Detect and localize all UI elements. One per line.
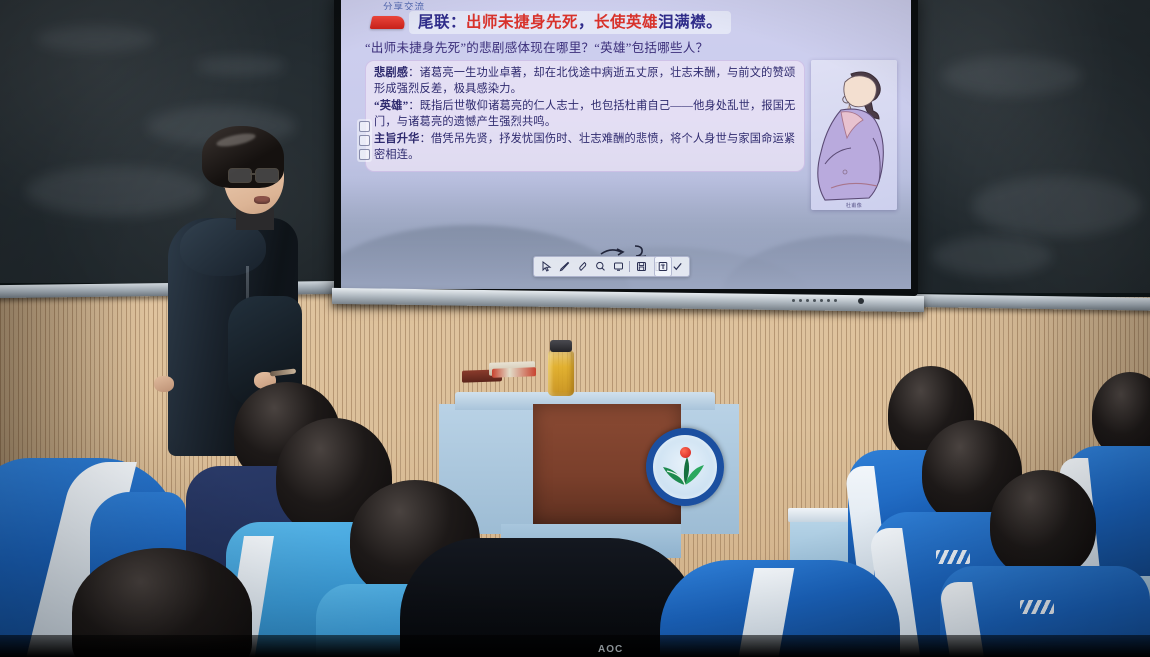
book-on-desk: [788, 508, 852, 522]
couplet-part2: 长使英雄: [594, 14, 658, 31]
cursor-tool-icon[interactable]: [537, 259, 555, 274]
couplet-label: 尾联：: [418, 14, 466, 31]
couplet-text: 尾联：出师未捷身先死，长使英雄泪满襟。: [409, 11, 731, 34]
foreground-shadow: [0, 635, 1150, 657]
teacher-mouth: [254, 196, 270, 204]
du-fu-portrait-illustration: 杜甫像: [811, 60, 897, 210]
chalkboard-right: [908, 0, 1150, 297]
slide-question: “出师未捷身先死”的悲剧感体现在哪里？“英雄”包括哪些人？: [365, 37, 897, 56]
paragraph-1-lead: 悲剧感: [374, 67, 408, 79]
paragraph-1-text: ：诸葛亮一生功业卓著，却在北伐途中病逝五丈原，壮志未酬，与前文的赞颂形成强烈反差…: [374, 67, 795, 95]
settings-icon[interactable]: [359, 149, 370, 160]
slide-paragraph-1: 悲剧感：诸葛亮一生功业卓著，却在北伐途中病逝五丈原，壮志未酬，与前文的赞颂形成强…: [374, 66, 796, 98]
couplet-tail: 泪满襟。: [658, 14, 722, 31]
portrait-caption: 杜甫像: [811, 202, 897, 209]
eraser-tool-icon[interactable]: [573, 259, 591, 274]
school-emblem: [646, 428, 724, 506]
screen-tool-icon[interactable]: [609, 259, 627, 274]
bottle-body: [548, 351, 574, 396]
slide-body-wrap: 悲剧感：诸葛亮一生功业卓著，却在北伐途中病逝五丈原，壮志未酬，与前文的赞颂形成强…: [365, 60, 897, 210]
magnifier-tool-icon[interactable]: [591, 259, 609, 274]
water-bottle: [548, 340, 574, 396]
emblem-sprout-icon: [653, 435, 717, 499]
paragraph-3-lead: 主旨升华: [374, 133, 420, 145]
smart-display[interactable]: 分享交流 尾联：出师未捷身先死，长使英雄泪满襟。 “出师未捷身先死”的悲剧感体现…: [334, 0, 918, 296]
display-power-button[interactable]: [858, 298, 864, 304]
display-screen[interactable]: 分享交流 尾联：出师未捷身先死，长使英雄泪满襟。 “出师未捷身先死”的悲剧感体现…: [341, 0, 911, 289]
pen-tool-icon[interactable]: [555, 259, 573, 274]
toolbar-separator: [629, 261, 630, 272]
couplet-row: 尾联：出师未捷身先死，长使英雄泪满襟。: [371, 11, 897, 34]
uniform-hash-stripe: [1020, 600, 1054, 614]
red-marker-icon: [370, 16, 407, 29]
display-indicator-lights: [792, 299, 837, 302]
paragraph-2-text: ：既指后世敬仰诸葛亮的仁人志士，也包括杜甫自己——他身处乱世，报国无门，与诸葛亮…: [374, 100, 796, 128]
podium-front-panel: [533, 404, 681, 524]
save-tool-icon[interactable]: [632, 259, 650, 274]
couplet-comma: ，: [578, 14, 594, 31]
slide-side-toolbar[interactable]: [357, 119, 372, 162]
teacher-left-hand: [154, 376, 174, 392]
page-icon[interactable]: [359, 121, 370, 132]
paragraph-3-text: ：借凭吊先贤，抒发忧国伤时、壮志难酬的悲愤，将个人身世与家国命运紧密相连。: [374, 133, 795, 161]
slide-paragraph-2: “英雄”：既指后世敬仰诸葛亮的仁人志士，也包括杜甫自己——他身处乱世，报国无门，…: [374, 99, 796, 131]
slide-body-card: 悲剧感：诸葛亮一生功业卓著，却在北伐途中病逝五丈原，壮志未酬，与前文的赞颂形成强…: [365, 60, 805, 171]
student-head: [990, 470, 1096, 578]
student-right-3: [960, 470, 1130, 657]
classroom-photo: 分享交流 尾联：出师未捷身先死，长使英雄泪满襟。 “出师未捷身先死”的悲剧感体现…: [0, 0, 1150, 657]
box-item: [492, 367, 536, 378]
monitor-brand-label: AOC: [598, 644, 623, 655]
couplet-part1: 出师未捷身先死: [466, 14, 578, 31]
bottle-cap: [550, 340, 572, 352]
paragraph-2-lead: “英雄”: [374, 100, 408, 112]
layers-icon[interactable]: [359, 135, 370, 146]
slide-paragraph-3: 主旨升华：借凭吊先贤，抒发忧国伤时、壮志难酬的悲愤，将个人身世与家国命运紧密相连…: [374, 132, 796, 164]
toolbar-more-button[interactable]: [654, 256, 672, 277]
slide-top-line: 分享交流: [383, 0, 897, 10]
teacher-glasses: [228, 168, 284, 183]
